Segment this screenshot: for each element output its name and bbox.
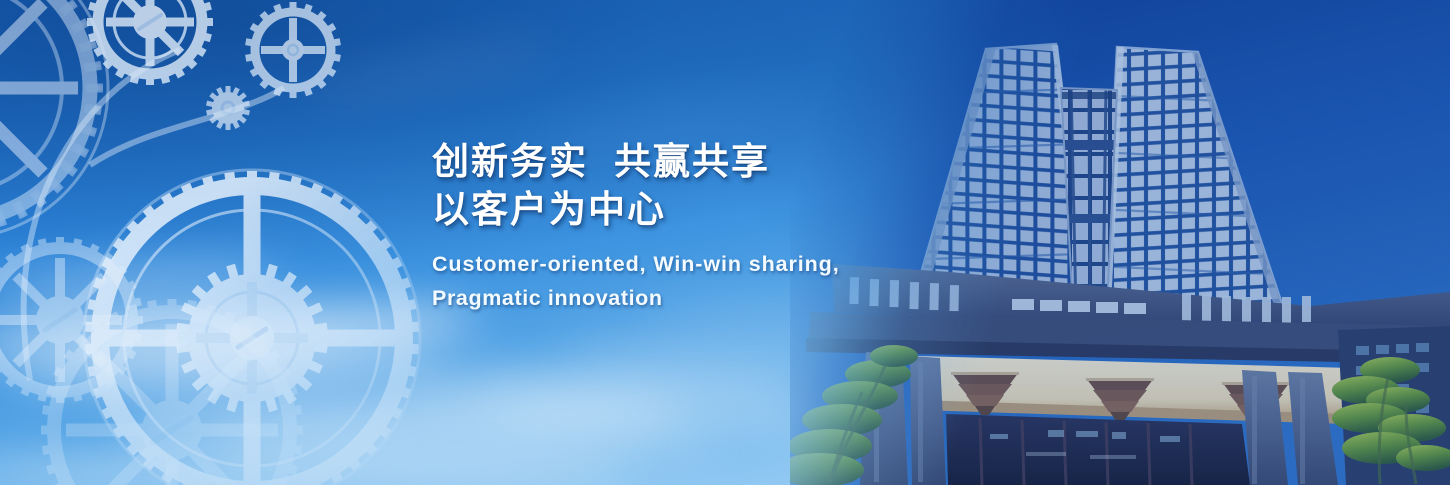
subtitle-block: Customer-oriented, Win-win sharing, Prag… xyxy=(432,247,992,315)
banner-copy: 创新务实共赢共享 以客户为中心 Customer-oriented, Win-w… xyxy=(432,138,992,315)
cloud-wisp xyxy=(480,404,840,428)
headline-line-1: 创新务实共赢共享 xyxy=(432,138,992,186)
subtitle-line-2: Pragmatic innovation xyxy=(432,281,992,315)
headline-part-2: 共赢共享 xyxy=(614,141,770,182)
headline-line-2: 以客户为中心 xyxy=(432,186,992,234)
cloud-wisp xyxy=(390,372,810,400)
hero-banner: 创新务实共赢共享 以客户为中心 Customer-oriented, Win-w… xyxy=(0,0,1450,485)
headline-part-1: 创新务实 xyxy=(432,141,588,182)
subtitle-line-1: Customer-oriented, Win-win sharing, xyxy=(432,247,992,281)
